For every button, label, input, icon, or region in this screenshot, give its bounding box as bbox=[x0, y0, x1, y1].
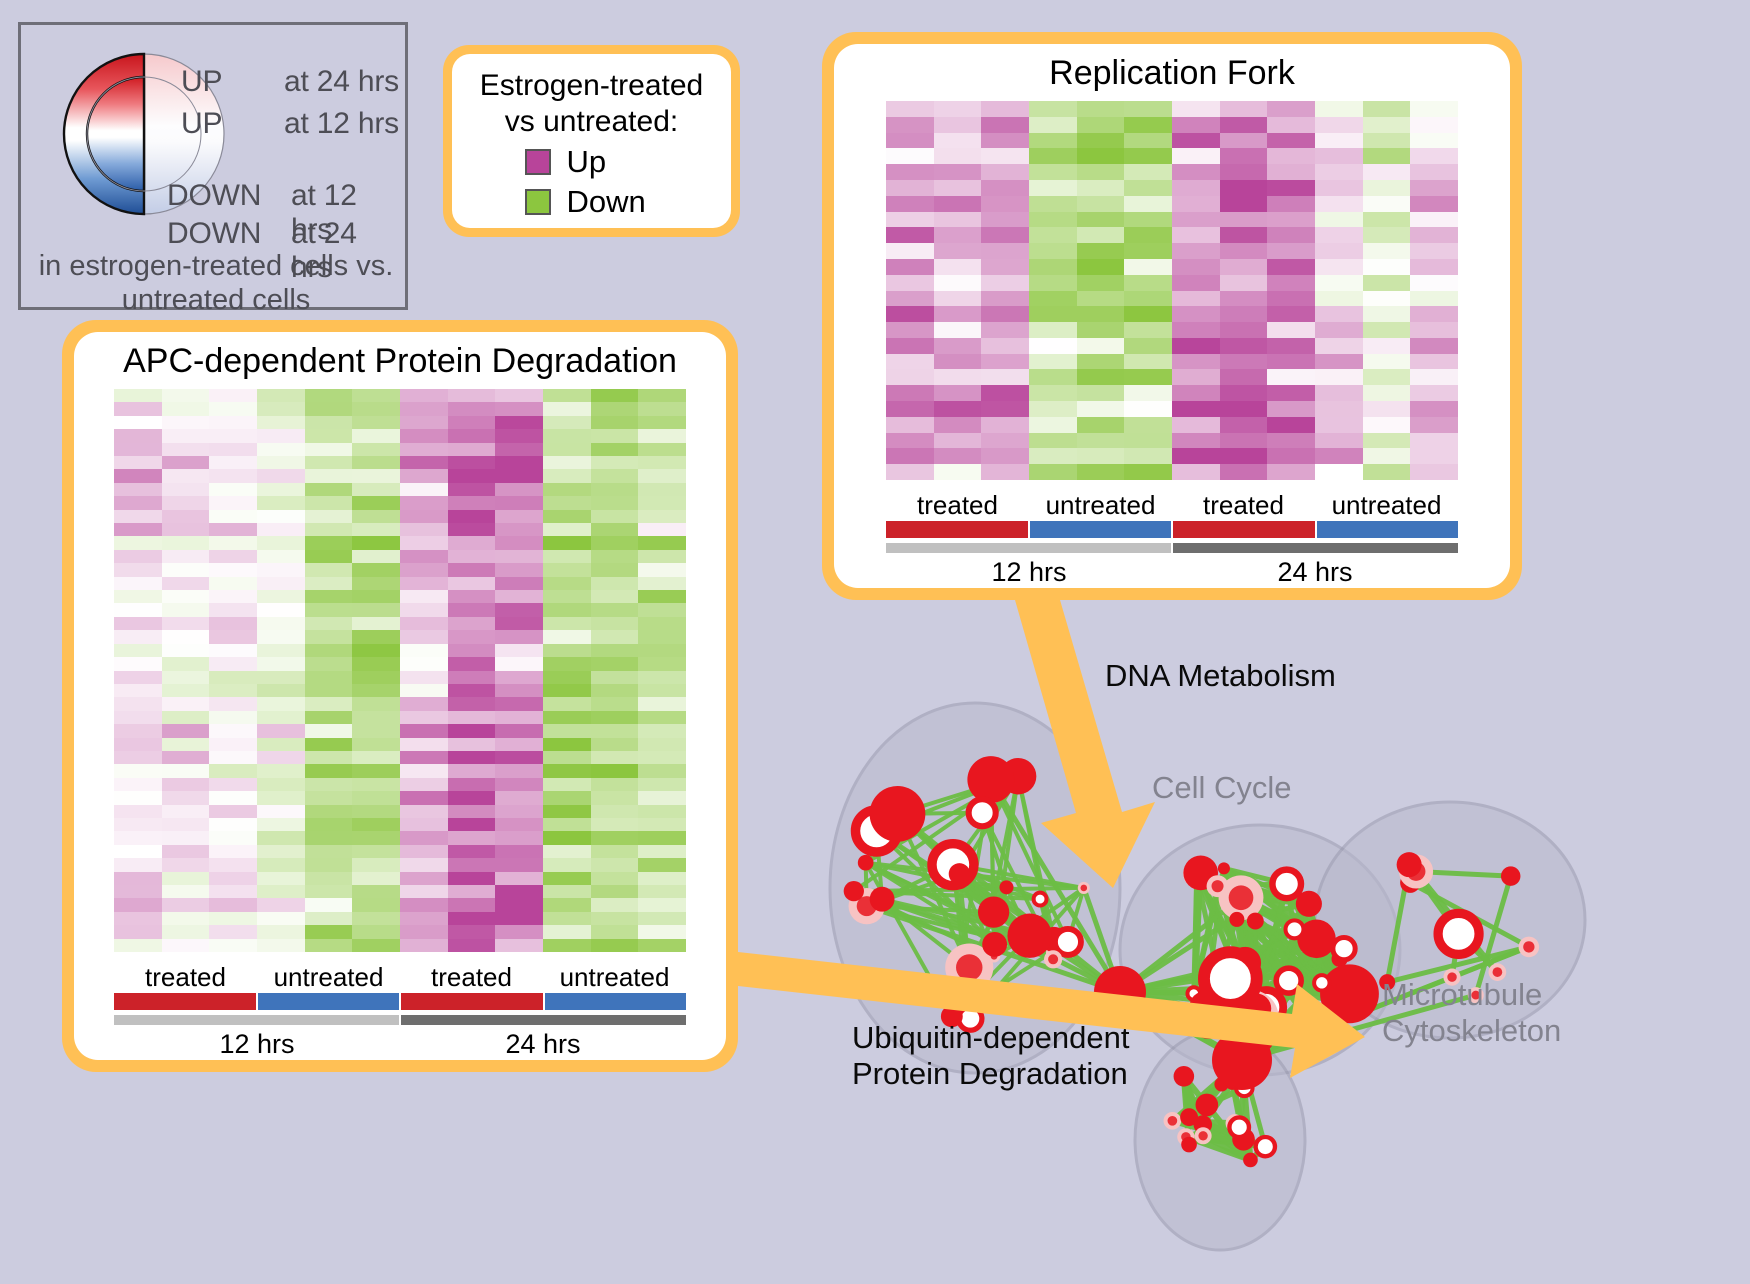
heatmap-cell bbox=[448, 536, 496, 549]
heatmap-cell bbox=[114, 402, 162, 415]
heatmap-cell bbox=[495, 845, 543, 858]
heatmap-cell bbox=[543, 577, 591, 590]
heatmap-cell bbox=[1315, 306, 1363, 322]
heatmap-cell bbox=[591, 939, 639, 952]
heatmap-cell bbox=[162, 805, 210, 818]
heatmap-cell bbox=[162, 483, 210, 496]
heatmap-cell bbox=[495, 402, 543, 415]
heatmap-cell bbox=[1029, 117, 1077, 133]
heatmap-cell bbox=[400, 483, 448, 496]
heatmap-cell bbox=[934, 196, 982, 212]
heatmap-cell bbox=[1410, 180, 1458, 196]
heatmap-cell bbox=[638, 389, 686, 402]
heatmap-cell bbox=[1124, 148, 1172, 164]
heatmap-cell bbox=[886, 291, 934, 307]
network-node bbox=[1272, 870, 1301, 899]
heatmap-cell bbox=[400, 563, 448, 576]
heatmap-cell bbox=[114, 831, 162, 844]
network-node bbox=[1180, 1108, 1198, 1126]
heatmap-cell bbox=[1124, 275, 1172, 291]
heatmap-cell bbox=[114, 805, 162, 818]
heatmap-cell bbox=[495, 711, 543, 724]
heatmap-cell bbox=[886, 259, 934, 275]
heatmap-cell bbox=[257, 845, 305, 858]
heatmap-cell bbox=[591, 711, 639, 724]
heatmap-cell bbox=[638, 603, 686, 616]
heatmap-cell bbox=[1172, 212, 1220, 228]
heatmap-cell bbox=[591, 483, 639, 496]
heatmap-cell bbox=[1267, 306, 1315, 322]
heatmap-cell bbox=[1267, 259, 1315, 275]
heatmap-cell bbox=[1267, 243, 1315, 259]
heatmap-cell bbox=[981, 464, 1029, 480]
heatmap-cell bbox=[638, 617, 686, 630]
heatmap-cell bbox=[1077, 369, 1125, 385]
heatmap-cell bbox=[981, 369, 1029, 385]
heatmap-cell bbox=[305, 684, 353, 697]
heatmap-cell bbox=[638, 898, 686, 911]
heatmap-cell bbox=[1363, 275, 1411, 291]
network-node bbox=[949, 863, 970, 884]
heatmap-cell bbox=[114, 443, 162, 456]
time-labels-apc: 12 hrs24 hrs bbox=[114, 1029, 686, 1060]
heatmap-cell bbox=[495, 590, 543, 603]
heatmap-cell bbox=[591, 550, 639, 563]
heatmap-cell bbox=[114, 697, 162, 710]
heatmap-cell bbox=[352, 751, 400, 764]
heatmap-cell bbox=[1267, 369, 1315, 385]
heatmap-cell bbox=[162, 684, 210, 697]
heatmap-cell bbox=[352, 429, 400, 442]
heatmap-cell bbox=[591, 416, 639, 429]
cluster-label-dna-metabolism: DNA Metabolism bbox=[1105, 658, 1336, 694]
heatmap-cell bbox=[162, 845, 210, 858]
heatmap-cell bbox=[448, 550, 496, 563]
heatmap-cell bbox=[257, 577, 305, 590]
heatmap-cell bbox=[981, 164, 1029, 180]
heatmap-cell bbox=[400, 536, 448, 549]
network-node bbox=[1438, 913, 1479, 954]
heatmap-cell bbox=[1124, 417, 1172, 433]
heatmap-cell bbox=[352, 778, 400, 791]
heatmap-cell bbox=[934, 101, 982, 117]
legend-item-up: Up bbox=[462, 144, 721, 180]
heatmap-cell bbox=[1124, 448, 1172, 464]
heatmap-cell bbox=[162, 469, 210, 482]
heatmap-cell bbox=[886, 148, 934, 164]
heatmap-cell bbox=[1029, 448, 1077, 464]
heatmap-cell bbox=[1315, 354, 1363, 370]
heatmap-cell bbox=[934, 259, 982, 275]
heatmap-cell bbox=[305, 603, 353, 616]
heatmap-cell bbox=[305, 805, 353, 818]
heatmap-cell bbox=[209, 563, 257, 576]
heatmap-cell bbox=[1172, 180, 1220, 196]
heatmap-cell bbox=[114, 791, 162, 804]
heatmap-cell bbox=[886, 243, 934, 259]
sample-group-bar bbox=[1030, 521, 1174, 538]
heatmap-cell bbox=[162, 443, 210, 456]
heatmap-cell bbox=[1410, 164, 1458, 180]
heatmap-cell bbox=[162, 657, 210, 670]
heatmap-cell bbox=[305, 885, 353, 898]
heatmap-cell bbox=[305, 711, 353, 724]
heatmap-cell bbox=[257, 657, 305, 670]
heatmap-cell bbox=[1077, 243, 1125, 259]
heatmap-cell bbox=[1220, 212, 1268, 228]
heatmap-cell bbox=[209, 644, 257, 657]
heatmap-cell bbox=[1363, 464, 1411, 480]
heatmap-cell bbox=[114, 858, 162, 871]
heatmap-cell bbox=[638, 402, 686, 415]
heatmap-cell bbox=[1172, 385, 1220, 401]
network-node bbox=[1218, 862, 1230, 874]
heatmap-cell bbox=[934, 354, 982, 370]
heatmap-cell bbox=[1267, 354, 1315, 370]
sample-group-bar bbox=[114, 993, 258, 1010]
heatmap-cell bbox=[400, 872, 448, 885]
heatmap-cell bbox=[352, 469, 400, 482]
heatmap-cell bbox=[257, 898, 305, 911]
network-node bbox=[1055, 929, 1081, 955]
sample-group-label: untreated bbox=[1029, 490, 1172, 521]
heatmap-cell bbox=[400, 510, 448, 523]
heatmap-cell bbox=[543, 858, 591, 871]
network-node-core bbox=[1523, 941, 1534, 952]
heatmap-cell bbox=[591, 657, 639, 670]
heatmap-cell bbox=[1077, 401, 1125, 417]
key-time-up-24: at 24 hrs bbox=[284, 65, 399, 99]
heatmap-cell bbox=[543, 456, 591, 469]
heatmap-cell bbox=[1410, 227, 1458, 243]
heatmap-cell bbox=[495, 443, 543, 456]
heatmap-cell bbox=[114, 456, 162, 469]
heatmap-cell bbox=[1077, 306, 1125, 322]
heatmap-cell bbox=[400, 858, 448, 871]
heatmap-cell bbox=[886, 322, 934, 338]
heatmap-cell bbox=[1315, 338, 1363, 354]
heatmap-cell bbox=[1363, 259, 1411, 275]
heatmap-cell bbox=[638, 577, 686, 590]
heatmap-cell bbox=[162, 603, 210, 616]
heatmap-cell bbox=[162, 630, 210, 643]
heatmap-cell bbox=[400, 416, 448, 429]
heatmap-cell bbox=[638, 657, 686, 670]
heatmap-cell bbox=[209, 657, 257, 670]
heatmap-cell bbox=[591, 644, 639, 657]
heatmap-cell bbox=[400, 764, 448, 777]
heatmap-cell bbox=[886, 133, 934, 149]
heatmap-cell bbox=[543, 697, 591, 710]
heatmap-cell bbox=[543, 443, 591, 456]
heatmap-cell bbox=[209, 577, 257, 590]
heatmap-cell bbox=[1410, 291, 1458, 307]
heatmap-cell bbox=[257, 644, 305, 657]
heatmap-cell bbox=[638, 510, 686, 523]
heatmap-cell bbox=[543, 550, 591, 563]
heatmap-cell bbox=[1172, 196, 1220, 212]
heatmap-cell bbox=[543, 791, 591, 804]
heatmap-cell bbox=[1220, 180, 1268, 196]
heatmap-cell bbox=[162, 711, 210, 724]
heatmap-cell bbox=[886, 369, 934, 385]
heatmap-cell bbox=[1267, 322, 1315, 338]
heatmap-cell bbox=[495, 416, 543, 429]
heatmap-cell bbox=[495, 724, 543, 737]
heatmap-cell bbox=[638, 885, 686, 898]
heatmap-cell bbox=[448, 939, 496, 952]
heatmap-cell bbox=[543, 617, 591, 630]
heatmap-cell bbox=[448, 684, 496, 697]
heatmap-cell bbox=[638, 416, 686, 429]
heatmap-cell bbox=[162, 416, 210, 429]
heatmap-cell bbox=[114, 496, 162, 509]
heatmap-cell bbox=[352, 510, 400, 523]
heatmap-cell bbox=[352, 644, 400, 657]
heatmap-cell bbox=[1267, 164, 1315, 180]
heatmap-cell bbox=[305, 483, 353, 496]
heatmap-cell bbox=[1124, 243, 1172, 259]
heatmap-cell bbox=[1124, 117, 1172, 133]
heatmap-cell bbox=[305, 429, 353, 442]
heatmap-cell bbox=[257, 912, 305, 925]
heatmap-cell bbox=[305, 496, 353, 509]
network-node bbox=[1241, 993, 1271, 1023]
heatmap-cell bbox=[257, 563, 305, 576]
heatmap-cell bbox=[591, 590, 639, 603]
heatmap-cell bbox=[495, 697, 543, 710]
heatmap-cell bbox=[257, 818, 305, 831]
sample-group-label: untreated bbox=[1315, 490, 1458, 521]
heatmap-cell bbox=[400, 684, 448, 697]
heatmap-cell bbox=[591, 724, 639, 737]
heatmap-cell bbox=[1410, 369, 1458, 385]
heatmap-cell bbox=[1124, 227, 1172, 243]
time-label: 12 hrs bbox=[114, 1029, 400, 1060]
heatmap-cell bbox=[448, 831, 496, 844]
heatmap-cell bbox=[209, 523, 257, 536]
heatmap-cell bbox=[1315, 322, 1363, 338]
heatmap-cell bbox=[305, 724, 353, 737]
heatmap-cell bbox=[543, 845, 591, 858]
heatmap-cell bbox=[305, 912, 353, 925]
heatmap-cell bbox=[1220, 101, 1268, 117]
heatmap-cell bbox=[1363, 117, 1411, 133]
heatmap-cell bbox=[305, 764, 353, 777]
heatmap-cell bbox=[1267, 101, 1315, 117]
heatmap-cell bbox=[114, 590, 162, 603]
heatmap-cell bbox=[981, 180, 1029, 196]
heatmap-cell bbox=[305, 657, 353, 670]
heatmap-cell bbox=[162, 724, 210, 737]
network-node-core bbox=[1168, 1116, 1178, 1126]
heatmap-cell bbox=[1267, 417, 1315, 433]
heatmap-cell bbox=[305, 831, 353, 844]
color-key-caption: in estrogen-treated cells vs. untreated … bbox=[21, 249, 411, 317]
heatmap-cell bbox=[114, 845, 162, 858]
heatmap-cell bbox=[1315, 275, 1363, 291]
heatmap-cell bbox=[352, 443, 400, 456]
heatmap-cell bbox=[257, 389, 305, 402]
heatmap-cell bbox=[352, 617, 400, 630]
heatmap-cell bbox=[257, 402, 305, 415]
heatmap-cell bbox=[1124, 164, 1172, 180]
heatmap-cell bbox=[400, 711, 448, 724]
heatmap-cell bbox=[1029, 275, 1077, 291]
heatmap-cell bbox=[591, 603, 639, 616]
network-node bbox=[870, 786, 926, 842]
heatmap-cell bbox=[352, 671, 400, 684]
heatmap-cell bbox=[114, 684, 162, 697]
heatmap-cell bbox=[257, 805, 305, 818]
network-node bbox=[982, 932, 1007, 957]
heatmap-cell bbox=[209, 496, 257, 509]
heatmap-cell bbox=[400, 657, 448, 670]
heatmap-cell bbox=[638, 496, 686, 509]
heatmap-cell bbox=[543, 523, 591, 536]
heatmap-cell bbox=[257, 858, 305, 871]
heatmap-cell bbox=[934, 148, 982, 164]
heatmap-cell bbox=[495, 456, 543, 469]
heatmap-cell bbox=[495, 429, 543, 442]
heatmap-cell bbox=[114, 939, 162, 952]
heatmap-cell bbox=[1220, 369, 1268, 385]
heatmap-cell bbox=[981, 322, 1029, 338]
heatmap-cell bbox=[448, 751, 496, 764]
heatmap-cell bbox=[1315, 417, 1363, 433]
heatmap-cell bbox=[209, 711, 257, 724]
heatmap-cell bbox=[1315, 148, 1363, 164]
heatmap-cell bbox=[934, 369, 982, 385]
network-node bbox=[1181, 1137, 1197, 1153]
heatmap-cell bbox=[981, 133, 1029, 149]
heatmap-cell bbox=[981, 212, 1029, 228]
heatmap-cell bbox=[257, 456, 305, 469]
heatmap-cell bbox=[400, 831, 448, 844]
heatmap-cell bbox=[1029, 417, 1077, 433]
network-node bbox=[1007, 914, 1051, 958]
network-node bbox=[1286, 920, 1304, 938]
heatmap-cell bbox=[543, 925, 591, 938]
heatmap-cell bbox=[448, 617, 496, 630]
network-node bbox=[1229, 1117, 1249, 1137]
heatmap-cell bbox=[886, 385, 934, 401]
heatmap-cell bbox=[1029, 259, 1077, 275]
heatmap-cell bbox=[934, 164, 982, 180]
heatmap-cell bbox=[495, 751, 543, 764]
heatmap-cell bbox=[981, 275, 1029, 291]
heatmap-cell bbox=[1267, 227, 1315, 243]
heatmap-cell bbox=[352, 402, 400, 415]
panel-title-apc: APC-dependent Protein Degradation bbox=[123, 342, 677, 381]
heatmap-cell bbox=[352, 496, 400, 509]
heatmap-cell bbox=[352, 898, 400, 911]
heatmap-cell bbox=[1124, 291, 1172, 307]
heatmap-cell bbox=[114, 563, 162, 576]
legend-label-down: Down bbox=[567, 184, 659, 220]
heatmap-cell bbox=[400, 671, 448, 684]
network-node bbox=[1314, 975, 1329, 990]
heatmap-cell bbox=[543, 510, 591, 523]
heatmap-cell bbox=[400, 389, 448, 402]
heatmap-cell bbox=[638, 872, 686, 885]
heatmap-cell bbox=[114, 898, 162, 911]
heatmap-cell bbox=[257, 872, 305, 885]
panel-apc-degradation: APC-dependent Protein Degradation treate… bbox=[62, 320, 738, 1072]
heatmap-cell bbox=[495, 657, 543, 670]
heatmap-cell bbox=[1220, 385, 1268, 401]
heatmap-cell bbox=[257, 684, 305, 697]
heatmap-cell bbox=[305, 939, 353, 952]
heatmap-cell bbox=[162, 898, 210, 911]
heatmap-cell bbox=[448, 590, 496, 603]
sample-group-bar bbox=[545, 993, 687, 1010]
heatmap-cell bbox=[114, 510, 162, 523]
heatmap-cell bbox=[305, 858, 353, 871]
heatmap-cell bbox=[400, 496, 448, 509]
heatmap-cell bbox=[495, 831, 543, 844]
heatmap-cell bbox=[638, 563, 686, 576]
heatmap-cell bbox=[495, 603, 543, 616]
heatmap-cell bbox=[114, 711, 162, 724]
heatmap-cell bbox=[638, 764, 686, 777]
heatmap-cell bbox=[543, 751, 591, 764]
sample-group-labels-apc: treateduntreatedtreateduntreated bbox=[114, 962, 686, 993]
heatmap-cell bbox=[591, 402, 639, 415]
heatmap-cell bbox=[162, 818, 210, 831]
cluster-label-cell-cycle: Cell Cycle bbox=[1152, 770, 1292, 806]
network-node-core bbox=[1080, 885, 1087, 892]
heatmap-cell bbox=[1029, 227, 1077, 243]
heatmap-cell bbox=[162, 791, 210, 804]
heatmap-cell bbox=[1363, 322, 1411, 338]
heatmap-cell bbox=[400, 818, 448, 831]
heatmap-cell bbox=[638, 523, 686, 536]
heatmap-cell bbox=[114, 671, 162, 684]
heatmap-cell bbox=[543, 872, 591, 885]
heatmap-cell bbox=[495, 898, 543, 911]
heatmap-cell bbox=[638, 778, 686, 791]
heatmap-cell bbox=[886, 275, 934, 291]
heatmap-cell bbox=[257, 429, 305, 442]
heatmap-cell bbox=[209, 536, 257, 549]
heatmap-cell bbox=[448, 711, 496, 724]
heatmap-cell bbox=[209, 402, 257, 415]
heatmap-cell bbox=[114, 550, 162, 563]
heatmap-cell bbox=[934, 180, 982, 196]
heatmap-cell bbox=[1267, 148, 1315, 164]
heatmap-cell bbox=[638, 671, 686, 684]
heatmap-cell bbox=[448, 483, 496, 496]
heatmap-cell bbox=[352, 550, 400, 563]
heatmap-cell bbox=[257, 738, 305, 751]
heatmap-cell bbox=[162, 550, 210, 563]
heatmap-cell bbox=[1077, 338, 1125, 354]
heatmap-cell bbox=[448, 456, 496, 469]
heatmap-cell bbox=[305, 443, 353, 456]
heatmap-cell bbox=[305, 898, 353, 911]
heatmap-cell bbox=[1410, 101, 1458, 117]
heatmap-cell bbox=[1172, 369, 1220, 385]
heatmap-cell bbox=[448, 791, 496, 804]
legend-swatch-up bbox=[525, 149, 551, 175]
heatmap-cell bbox=[448, 858, 496, 871]
heatmap-cell bbox=[209, 898, 257, 911]
heatmap-cell bbox=[352, 925, 400, 938]
heatmap-cell bbox=[305, 523, 353, 536]
heatmap-cell bbox=[981, 227, 1029, 243]
heatmap-cell bbox=[591, 523, 639, 536]
